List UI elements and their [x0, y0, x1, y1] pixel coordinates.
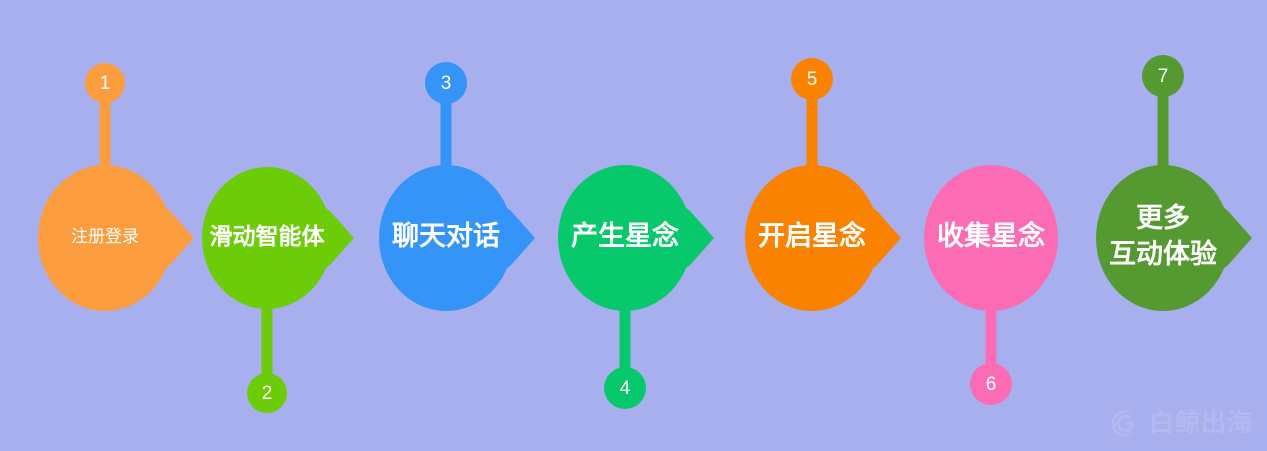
nodes-layer: 1注册登录2滑动智能体3聊天对话4产生星念5开启星念6收集星念7更多互动体验 — [38, 55, 1252, 413]
node-label: 开启星念 — [758, 220, 866, 251]
flow-node-3[interactable]: 3聊天对话 — [379, 62, 535, 311]
flow-node-2[interactable]: 2滑动智能体 — [202, 167, 354, 413]
node-number-text: 7 — [1158, 66, 1169, 87]
node-label: 产生星念 — [571, 220, 679, 251]
node-body-with-arrow[interactable] — [1096, 165, 1252, 311]
node-number-text: 4 — [620, 378, 631, 399]
flow-node-7[interactable]: 7更多互动体验 — [1096, 55, 1252, 311]
flow-node-4[interactable]: 4产生星念 — [558, 165, 714, 409]
node-label: 收集星念 — [937, 220, 1045, 251]
node-number-text: 6 — [986, 374, 997, 395]
baijing-logo-icon — [1109, 408, 1140, 439]
diagram-canvas: 1注册登录2滑动智能体3聊天对话4产生星念5开启星念6收集星念7更多互动体验 白… — [0, 0, 1267, 451]
process-flow-diagram: 1注册登录2滑动智能体3聊天对话4产生星念5开启星念6收集星念7更多互动体验 — [0, 0, 1267, 451]
watermark-text: 白鲸出海 — [1149, 411, 1253, 436]
node-label: 注册登录 — [71, 227, 139, 246]
flow-node-6[interactable]: 6收集星念 — [924, 165, 1058, 405]
node-number-text: 1 — [100, 73, 111, 94]
node-label: 聊天对话 — [392, 221, 500, 251]
node-number-text: 2 — [262, 383, 273, 404]
flow-node-5[interactable]: 5开启星念 — [745, 58, 901, 311]
flow-node-1[interactable]: 1注册登录 — [38, 63, 194, 311]
node-number-text: 5 — [807, 69, 818, 90]
node-label: 滑动智能体 — [210, 223, 326, 249]
node-number-text: 3 — [441, 73, 452, 94]
watermark: 白鲸出海 — [1109, 408, 1253, 439]
